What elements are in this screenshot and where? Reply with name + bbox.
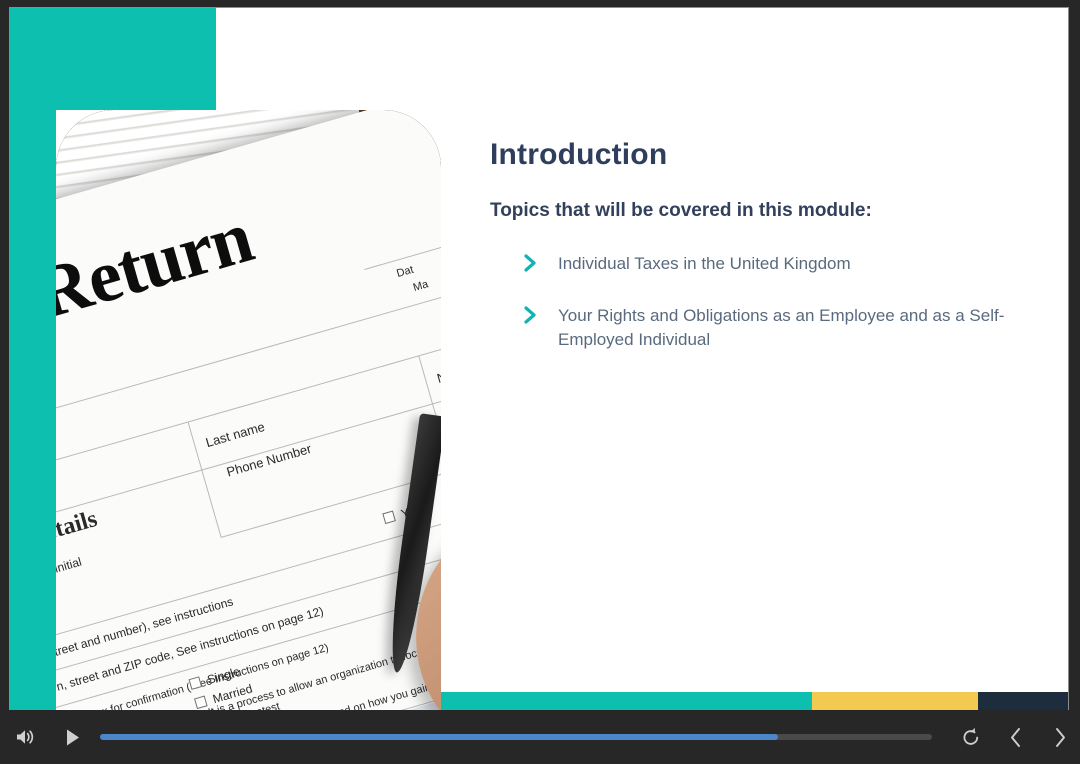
slide-content: Introduction Topics that will be covered… <box>490 138 1035 380</box>
teal-accent-strip <box>10 8 56 710</box>
form-no-label: No. <box>435 366 441 386</box>
previous-icon[interactable] <box>996 720 1036 754</box>
accent-bar-teal <box>441 692 812 710</box>
tax-return-form: Tax Return Dat Ma sonal Details irst nam… <box>56 110 441 710</box>
checkbox-you <box>382 510 396 524</box>
slide-title: Introduction <box>490 138 1035 172</box>
accent-bar-yellow <box>812 692 978 710</box>
progress-fill <box>100 734 778 740</box>
course-player: Tax Return Dat Ma sonal Details irst nam… <box>0 0 1080 764</box>
slide-subtitle: Topics that will be covered in this modu… <box>490 200 1035 222</box>
form-first-name-label: irst name and initial <box>56 555 83 597</box>
topics-list: Individual Taxes in the United Kingdom Y… <box>490 252 1035 352</box>
list-item: Your Rights and Obligations as an Employ… <box>520 304 1035 352</box>
chevron-right-icon <box>520 304 540 326</box>
player-control-bar <box>0 710 1080 764</box>
form-date-label: Dat <box>395 264 415 280</box>
form-last-name-label: Last name <box>204 419 266 450</box>
form-phone-label: Phone Number <box>225 441 313 480</box>
replay-icon[interactable] <box>950 720 992 754</box>
list-item: Individual Taxes in the United Kingdom <box>520 252 1035 276</box>
accent-bar-navy <box>978 692 1068 710</box>
tax-return-photo: Tax Return Dat Ma sonal Details irst nam… <box>56 110 441 710</box>
next-icon[interactable] <box>1040 720 1080 754</box>
slide-canvas: Tax Return Dat Ma sonal Details irst nam… <box>10 8 1068 710</box>
list-item-label: Individual Taxes in the United Kingdom <box>558 252 851 276</box>
list-item-label: Your Rights and Obligations as an Employ… <box>558 304 1035 352</box>
chevron-right-icon <box>520 252 540 274</box>
volume-icon[interactable] <box>4 720 48 754</box>
form-ma-label: Ma <box>412 278 430 294</box>
checkbox-married <box>194 696 208 710</box>
form-heading: Tax Return <box>56 195 261 373</box>
play-button[interactable] <box>54 720 92 754</box>
progress-scrubber[interactable] <box>100 734 932 740</box>
slide-image: Tax Return Dat Ma sonal Details irst nam… <box>56 110 441 710</box>
